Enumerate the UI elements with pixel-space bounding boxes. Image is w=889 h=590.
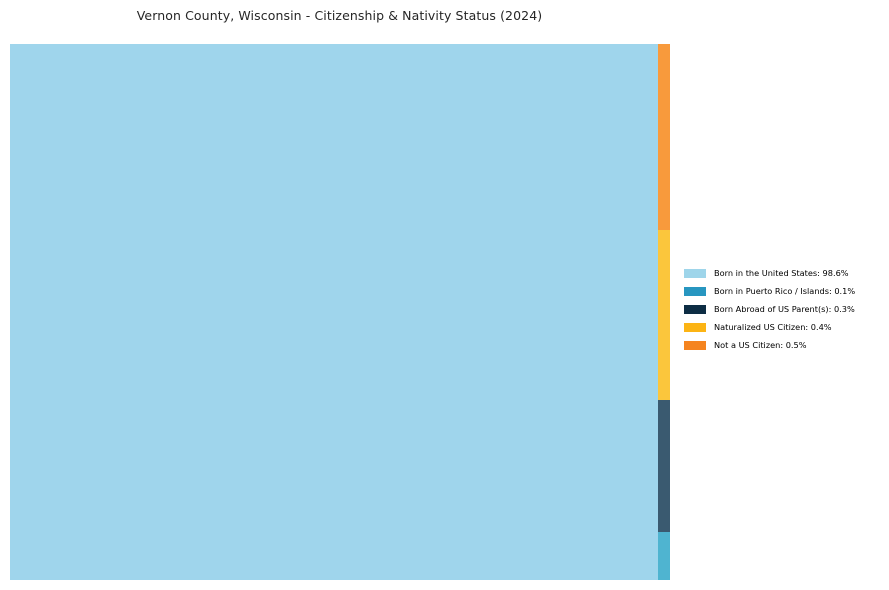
legend-item[interactable]: Born Abroad of US Parent(s): 0.3% [684,300,884,318]
treemap-plot-area [10,44,670,580]
treemap-tile-naturalized-us-citizen[interactable] [658,230,670,400]
legend-item-label: Naturalized US Citizen: 0.4% [714,322,832,332]
treemap-tile-born-in-the-united-states[interactable] [10,44,658,580]
legend-item[interactable]: Naturalized US Citizen: 0.4% [684,318,884,336]
legend-item-label: Born Abroad of US Parent(s): 0.3% [714,304,855,314]
legend-item-label: Born in the United States: 98.6% [714,268,849,278]
treemap-tile-not-a-us-citizen[interactable] [658,44,670,230]
figure-canvas: Vernon County, Wisconsin - Citizenship &… [0,0,889,590]
legend-item[interactable]: Not a US Citizen: 0.5% [684,336,884,354]
legend-item-label: Born in Puerto Rico / Islands: 0.1% [714,286,855,296]
legend-item-label: Not a US Citizen: 0.5% [714,340,807,350]
legend-swatch-icon [684,341,706,350]
legend-swatch-icon [684,287,706,296]
legend-swatch-icon [684,269,706,278]
treemap-tile-born-abroad-of-us-parents[interactable] [658,400,670,532]
chart-title: Vernon County, Wisconsin - Citizenship &… [0,8,679,23]
legend-swatch-icon [684,305,706,314]
legend-item[interactable]: Born in Puerto Rico / Islands: 0.1% [684,282,884,300]
treemap-tile-born-in-puerto-rico-islands[interactable] [658,532,670,580]
legend-item[interactable]: Born in the United States: 98.6% [684,264,884,282]
chart-legend: Born in the United States: 98.6% Born in… [684,264,884,354]
legend-swatch-icon [684,323,706,332]
